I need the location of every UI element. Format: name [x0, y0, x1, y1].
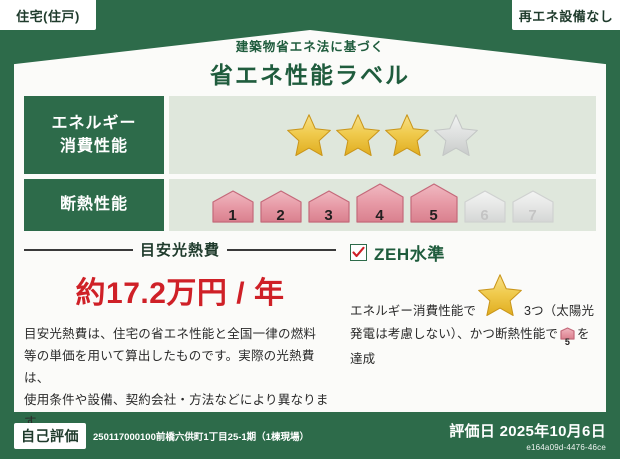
check-icon [352, 246, 365, 259]
star-icon-empty [433, 112, 479, 158]
insulation-level-6: 6 [463, 189, 507, 229]
evaluation-date-label: 評価日 [449, 423, 495, 440]
house-icon: 5 [559, 326, 576, 349]
renewable-equipment-label: 再エネ設備なし [519, 6, 614, 25]
star-icon-filled [286, 112, 332, 158]
insulation-level-4: 4 [355, 182, 405, 229]
insulation-scale: 1 2 3 4 [211, 182, 555, 229]
label-roof-header: 建築物省エネ法に基づく 省エネ性能ラベル [14, 30, 606, 92]
insulation-level-5: 5 [409, 182, 459, 229]
zeh-note-part-a: エネルギー消費性能で [350, 304, 476, 318]
insulation-level-2: 2 [259, 189, 303, 229]
insulation-level-number: 4 [355, 207, 405, 224]
energy-performance-label: エネルギー 消費性能 [24, 96, 164, 174]
housing-type-label: 住宅(住戸) [16, 6, 80, 25]
heading-rule-left [24, 249, 133, 251]
insulation-level-number: 7 [511, 207, 555, 224]
zeh-block: ZEH水準 エネルギー消費性能で 3つ（太陽光発電は考慮しない）、かつ断熱性能で… [344, 237, 596, 433]
insulation-level-1: 1 [211, 189, 255, 229]
energy-performance-value [169, 96, 596, 174]
header-subtitle: 建築物省エネ法に基づく [14, 36, 606, 55]
zeh-checkbox [350, 244, 367, 261]
zeh-note-part-c: は考慮しない）、かつ断熱性能で [375, 327, 558, 341]
energy-performance-row: エネルギー 消費性能 [24, 96, 596, 174]
star-icon-filled [384, 112, 430, 158]
insulation-level-3: 3 [307, 189, 351, 229]
utility-cost-note-line2: 等の単価を用いて算出したものです。実際の光熱費は、 [24, 346, 336, 390]
heading-rule-right [227, 249, 336, 251]
insulation-performance-label: 断熱性能 [24, 179, 164, 231]
insulation-performance-row: 断熱性能 1 2 3 [24, 179, 596, 231]
renewable-equipment-badge: 再エネ設備なし [512, 0, 620, 30]
evaluation-info: 評価日 2025年10月6日 e164a09d-4476-46ce [449, 420, 606, 452]
zeh-title-text: ZEH水準 [374, 240, 445, 265]
page-title: 省エネ性能ラベル [14, 56, 606, 90]
insulation-level-number: 6 [463, 207, 507, 224]
star-icon [477, 272, 523, 318]
self-evaluation-badge: 自己評価 [14, 423, 86, 449]
label-card: エネルギー 消費性能 [14, 90, 606, 412]
utility-cost-value: 約17.2万円 / 年 [24, 268, 336, 312]
document-uuid: e164a09d-4476-46ce [449, 443, 606, 452]
insulation-level-number: 3 [307, 207, 351, 224]
evaluation-date-value: 2025年10月6日 [500, 423, 606, 440]
insulation-performance-value: 1 2 3 4 [169, 179, 596, 231]
energy-performance-label-line2: 消費性能 [60, 135, 128, 158]
utility-cost-note-line1: 目安光熱費は、住宅の省エネ性能と全国一律の燃料 [24, 324, 336, 346]
utility-cost-heading-text: 目安光熱費 [140, 239, 220, 260]
utility-cost-heading: 目安光熱費 [24, 239, 336, 260]
energy-performance-label-line1: エネルギー [51, 112, 136, 135]
star-icon-filled [335, 112, 381, 158]
utility-cost-block: 目安光熱費 約17.2万円 / 年 目安光熱費は、住宅の省エネ性能と全国一律の燃… [24, 237, 344, 433]
housing-type-badge: 住宅(住戸) [0, 0, 96, 30]
footer: 自己評価 250117000100前橋六供町1丁目25-1期（1棟現場） 評価日… [0, 412, 620, 459]
insulation-level-number: 1 [211, 207, 255, 224]
insulation-level-number: 5 [409, 207, 459, 224]
insulation-level-number: 2 [259, 207, 303, 224]
evaluation-date: 評価日 2025年10月6日 [449, 420, 606, 441]
insulation-performance-label-text: 断熱性能 [60, 193, 128, 216]
zeh-title-row: ZEH水準 [350, 240, 596, 265]
zeh-note: エネルギー消費性能で 3つ（太陽光発電は考慮しない）、かつ断熱性能で 5を達成 [350, 272, 596, 371]
insulation-level-7: 7 [511, 189, 555, 229]
star-rating [286, 112, 479, 158]
details-section: 目安光熱費 約17.2万円 / 年 目安光熱費は、住宅の省エネ性能と全国一律の燃… [24, 237, 596, 433]
property-id-text: 250117000100前橋六供町1丁目25-1期（1棟現場） [93, 429, 309, 443]
